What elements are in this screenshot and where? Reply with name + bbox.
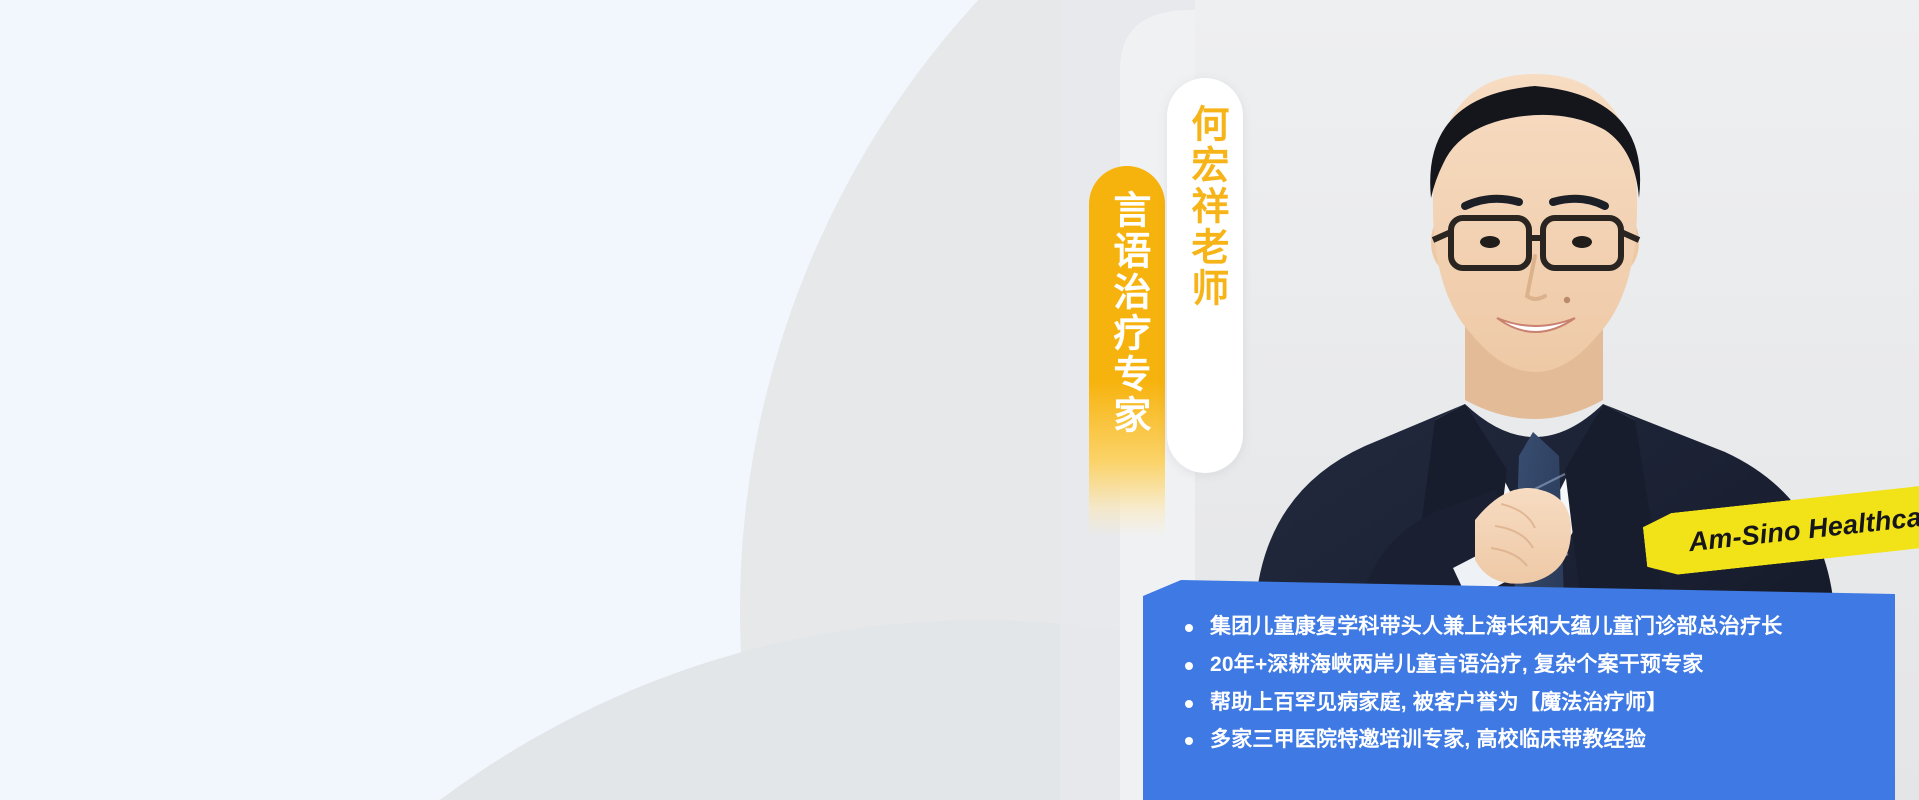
expert-profile-banner: 言语治疗专家 何宏祥老师 Am-Sino Healthcare 集团儿童康复学科… — [0, 0, 1919, 800]
name-badge-label: 何宏祥老师 — [1184, 104, 1226, 444]
credential-item: 多家三甲医院特邀培训专家, 高校临床带教经验 — [1183, 726, 1895, 753]
credentials-list: 集团儿童康复学科带头人兼上海长和大蕴儿童门诊部总治疗长 20年+深耕海峡两岸儿童… — [1143, 580, 1895, 754]
portrait-eye-left — [1480, 236, 1500, 248]
credentials-panel: 集团儿童康复学科带头人兼上海长和大蕴儿童门诊部总治疗长 20年+深耕海峡两岸儿童… — [1143, 580, 1895, 800]
credential-item: 集团儿童康复学科带头人兼上海长和大蕴儿童门诊部总治疗长 — [1183, 613, 1895, 640]
credential-item: 帮助上百罕见病家庭, 被客户誉为【魔法治疗师】 — [1183, 689, 1895, 716]
portrait-eye-right — [1572, 236, 1592, 248]
name-badge: 何宏祥老师 — [1167, 78, 1243, 473]
portrait-mole — [1564, 297, 1570, 303]
role-badge: 言语治疗专家 — [1089, 166, 1165, 536]
role-badge-label: 言语治疗专家 — [1106, 190, 1148, 490]
credential-item: 20年+深耕海峡两岸儿童言语治疗, 复杂个案干预专家 — [1183, 651, 1895, 678]
brand-ribbon-label: Am-Sino Healthcare — [1687, 499, 1919, 558]
